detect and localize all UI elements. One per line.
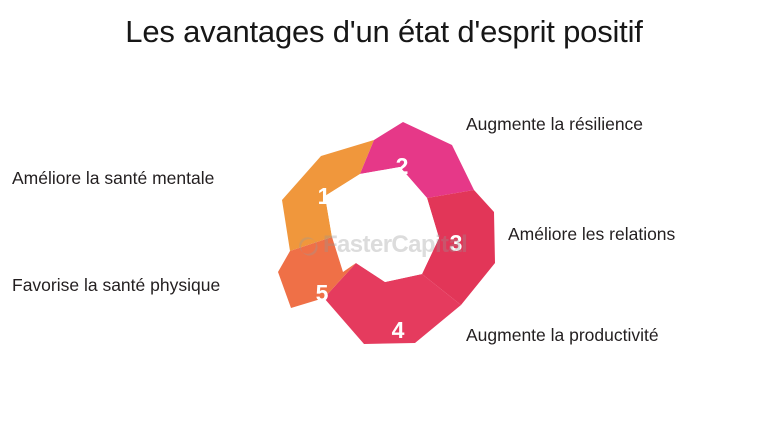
segment-3-number: 3 [450, 230, 463, 256]
page-title: Les avantages d'un état d'esprit positif [0, 14, 768, 50]
segment-label-3: Améliore les relations [508, 224, 675, 245]
segment-5-number: 5 [316, 280, 329, 306]
segment-label-2: Augmente la résilience [466, 114, 643, 135]
segment-label-4: Augmente la productivité [466, 325, 659, 346]
segment-label-1: Améliore la santé mentale [12, 168, 214, 189]
segment-label-5: Favorise la santé physique [12, 275, 220, 296]
segment-4-number: 4 [392, 317, 405, 343]
